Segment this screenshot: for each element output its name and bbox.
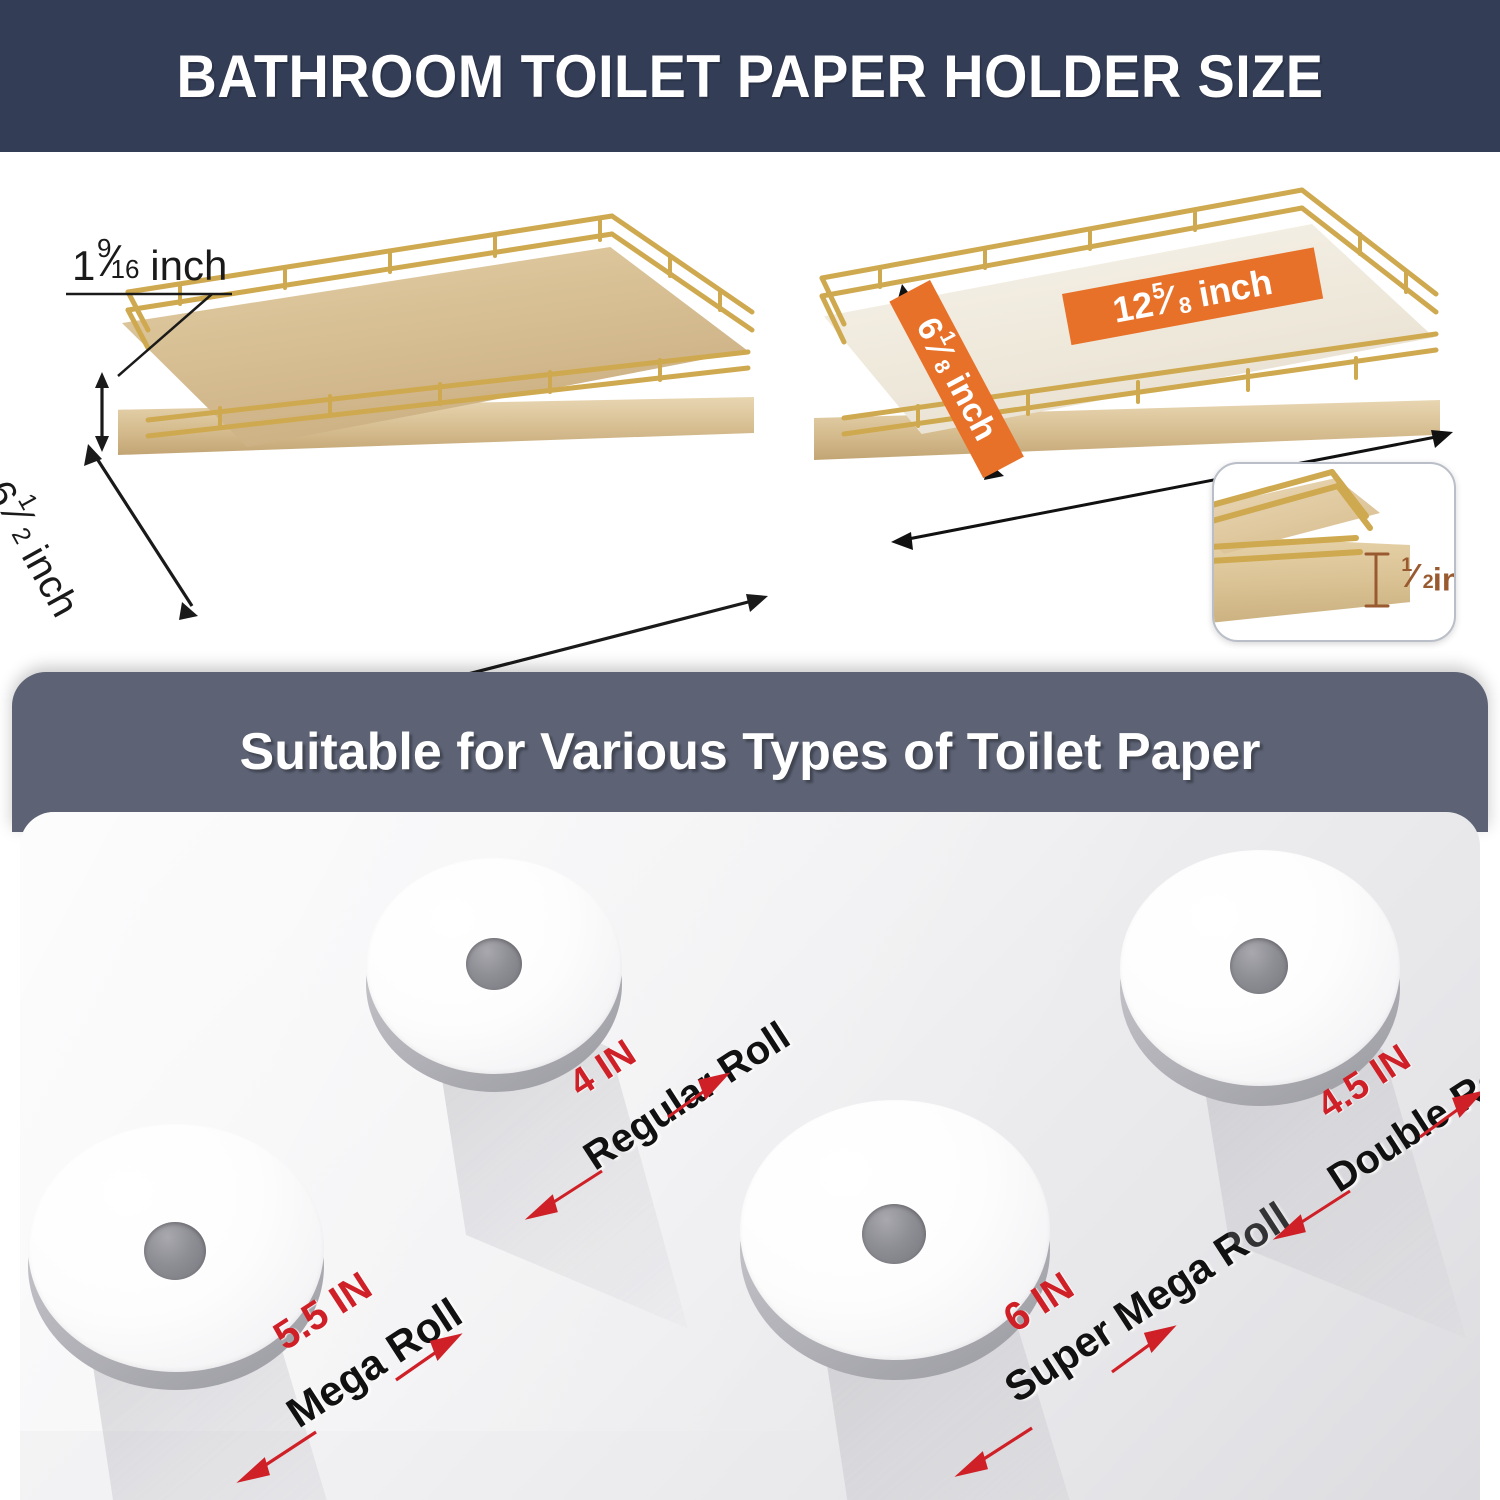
roll-double-arrow [1260, 1027, 1480, 1277]
inset-dimension-label: 1⁄2in [1400, 560, 1456, 598]
inset-dimension-unit: in [1433, 561, 1456, 597]
roll-super-mega-arrow [940, 1252, 1190, 1500]
roll-double-hole [1230, 938, 1288, 994]
roll-regular-hole [466, 938, 522, 990]
dimension-depth-unit: inch [13, 539, 87, 625]
product-dimension-section: 19⁄16 inch 61⁄2 inch 13 inch [0, 152, 1500, 660]
height-leader-arrow [60, 272, 290, 452]
depth-dimension-arrow [82, 444, 232, 624]
badge-inner-length-unit: inch [1195, 261, 1275, 316]
roll-mega-hole [144, 1222, 206, 1280]
inset-fraction: 1⁄2 [1401, 560, 1431, 592]
badge-inner-length-fraction: 5⁄8 [1151, 279, 1191, 321]
infographic-root: BATHROOM TOILET PAPER HOLDER SIZE [0, 0, 1500, 1500]
compatibility-banner-title: Suitable for Various Types of Toilet Pap… [12, 672, 1488, 832]
toilet-paper-rolls-panel: 5.5 IN Mega Roll 4 IN Regular Roll [20, 812, 1480, 1500]
dimension-label-depth: 61⁄2 inch [0, 472, 90, 625]
roll-super-mega-hole [862, 1204, 926, 1264]
inset-gold-rails [1214, 464, 1454, 640]
rail-height-inset-callout: 1⁄2in [1212, 462, 1456, 642]
roll-mega-arrow [220, 1262, 470, 1500]
badge-inner-length-whole: 12 [1110, 283, 1157, 332]
page-title: BATHROOM TOILET PAPER HOLDER SIZE [53, 0, 1448, 152]
